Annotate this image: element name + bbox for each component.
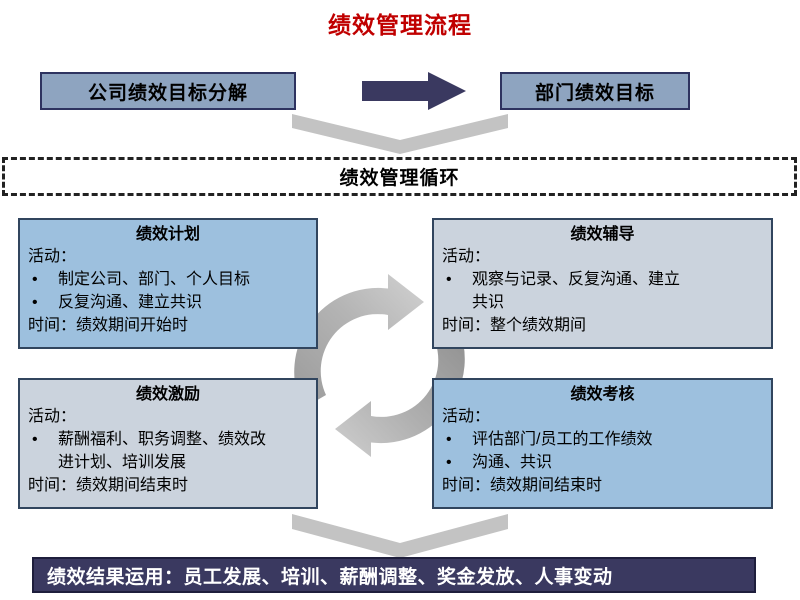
- list-item-line1: 观察与记录、反复沟通、建立: [472, 271, 680, 288]
- list-item-line2: 进计划、培训发展: [58, 451, 308, 474]
- list-item: 制定公司、部门、个人目标: [28, 268, 308, 291]
- result-usage-label: 绩效结果运用：员工发展、培训、薪酬调整、奖金发放、人事变动: [47, 562, 613, 589]
- top-box-company-goal-breakdown-label: 公司绩效目标分解: [88, 78, 248, 105]
- quadrant-bullets-incentive: 薪酬福利、职务调整、绩效改进计划、培训发展: [28, 428, 308, 474]
- quadrant-time-coaching: 时间：整个绩效期间: [442, 314, 763, 337]
- quadrant-box-coaching[interactable]: 绩效辅导 活动： 观察与记录、反复沟通、建立共识 时间：整个绩效期间: [432, 218, 773, 349]
- list-item: 评估部门/员工的工作绩效: [442, 428, 763, 451]
- quadrant-activity-label-coaching: 活动：: [442, 245, 763, 268]
- quadrant-bullets-coaching: 观察与记录、反复沟通、建立共识: [442, 268, 763, 314]
- top-box-company-goal-breakdown[interactable]: 公司绩效目标分解: [40, 72, 296, 110]
- quadrant-box-plan[interactable]: 绩效计划 活动： 制定公司、部门、个人目标 反复沟通、建立共识 时间：绩效期间开…: [18, 218, 318, 349]
- quadrant-box-appraisal[interactable]: 绩效考核 活动： 评估部门/员工的工作绩效 沟通、共识 时间：绩效期间结束时: [432, 378, 773, 509]
- quadrant-title-plan: 绩效计划: [28, 225, 308, 245]
- list-item-line2: 共识: [472, 291, 763, 314]
- quadrant-title-incentive: 绩效激励: [28, 385, 308, 405]
- list-item: 反复沟通、建立共识: [28, 291, 308, 314]
- result-usage-bar[interactable]: 绩效结果运用：员工发展、培训、薪酬调整、奖金发放、人事变动: [32, 557, 756, 593]
- list-item-line1: 薪酬福利、职务调整、绩效改: [58, 431, 266, 448]
- page-title: 绩效管理流程: [0, 6, 800, 40]
- list-item: 观察与记录、反复沟通、建立共识: [442, 268, 763, 314]
- right-arrow-icon: [362, 72, 466, 110]
- quadrant-title-coaching: 绩效辅导: [442, 225, 763, 245]
- quadrant-activity-label-plan: 活动：: [28, 245, 308, 268]
- top-box-department-goal-label: 部门绩效目标: [535, 78, 655, 105]
- list-item: 薪酬福利、职务调整、绩效改进计划、培训发展: [28, 428, 308, 474]
- list-item: 沟通、共识: [442, 451, 763, 474]
- quadrant-activity-label-appraisal: 活动：: [442, 405, 763, 428]
- quadrant-time-appraisal: 时间：绩效期间结束时: [442, 474, 763, 497]
- quadrant-time-incentive: 时间：绩效期间结束时: [28, 474, 308, 497]
- quadrant-bullets-appraisal: 评估部门/员工的工作绩效 沟通、共识: [442, 428, 763, 474]
- quadrant-time-plan: 时间：绩效期间开始时: [28, 314, 308, 337]
- top-box-department-goal[interactable]: 部门绩效目标: [500, 72, 690, 110]
- chevron-down-icon-top: [292, 114, 508, 154]
- cycle-band: 绩效管理循环: [2, 157, 797, 196]
- performance-management-flow-diagram: 绩效管理流程 公司绩效目标分解 部门绩效目标 绩效管理循环: [0, 0, 800, 600]
- quadrant-box-incentive[interactable]: 绩效激励 活动： 薪酬福利、职务调整、绩效改进计划、培训发展 时间：绩效期间结束…: [18, 378, 318, 509]
- quadrant-bullets-plan: 制定公司、部门、个人目标 反复沟通、建立共识: [28, 268, 308, 314]
- quadrant-title-appraisal: 绩效考核: [442, 385, 763, 405]
- cycle-band-label: 绩效管理循环: [339, 163, 459, 190]
- quadrant-activity-label-incentive: 活动：: [28, 405, 308, 428]
- chevron-down-icon-bottom: [292, 514, 508, 558]
